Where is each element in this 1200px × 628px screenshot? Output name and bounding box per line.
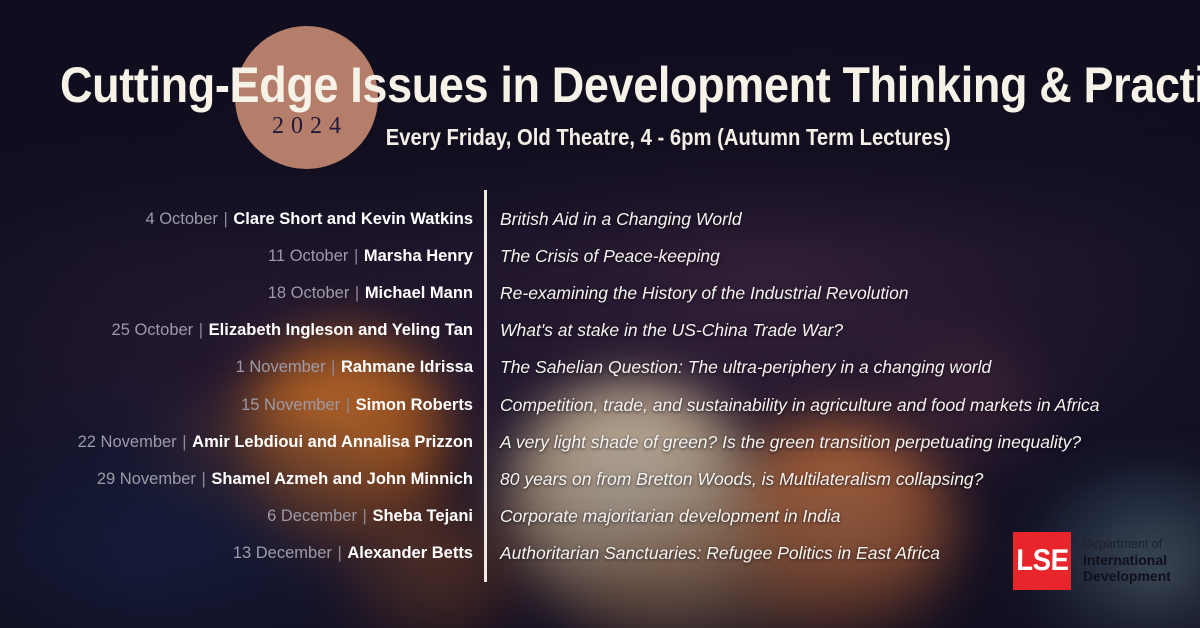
lecture-date: 11 October xyxy=(268,247,348,265)
lecture-date-speaker: 13 December | Alexander Betts xyxy=(0,541,473,565)
lecture-title: British Aid in a Changing World xyxy=(500,207,742,231)
lecture-date: 22 November xyxy=(78,433,177,451)
lecture-speakers: Amir Lebdioui and Annalisa Prizzon xyxy=(192,433,473,451)
date-speaker-separator: | xyxy=(349,284,364,302)
lecture-date-speaker: 4 October | Clare Short and Kevin Watkin… xyxy=(0,207,473,231)
lecture-speakers: Alexander Betts xyxy=(347,544,473,562)
date-speaker-separator: | xyxy=(196,470,211,488)
lecture-date: 1 November xyxy=(236,358,326,376)
lecture-row: 29 November | Shamel Azmeh and John Minn… xyxy=(0,467,1200,504)
lecture-speakers: Rahmane Idrissa xyxy=(341,358,473,376)
poster-canvas: 2024 Cutting-Edge Issues in Development … xyxy=(0,0,1200,628)
lecture-title: A very light shade of green? Is the gree… xyxy=(500,430,1081,454)
date-speaker-separator: | xyxy=(177,433,192,451)
date-speaker-separator: | xyxy=(218,210,233,228)
lecture-title: What's at stake in the US-China Trade Wa… xyxy=(500,318,843,342)
lecture-date-speaker: 18 October | Michael Mann xyxy=(0,281,473,305)
lecture-date-speaker: 1 November | Rahmane Idrissa xyxy=(0,355,473,379)
date-speaker-separator: | xyxy=(325,358,340,376)
lecture-speakers: Elizabeth Ingleson and Yeling Tan xyxy=(209,321,473,339)
page-title: Cutting-Edge Issues in Development Think… xyxy=(60,56,1140,114)
date-speaker-separator: | xyxy=(332,544,347,562)
lecture-row: 15 November | Simon RobertsCompetition, … xyxy=(0,393,1200,430)
lecture-date-speaker: 6 December | Sheba Tejani xyxy=(0,504,473,528)
lecture-date-speaker: 25 October | Elizabeth Ingleson and Yeli… xyxy=(0,318,473,342)
poster-header: 2024 Cutting-Edge Issues in Development … xyxy=(0,0,1200,180)
lse-department-of-label: Department of xyxy=(1083,537,1171,552)
lse-red-mark: LSE xyxy=(1013,532,1071,590)
lse-logo: LSE Department of International Developm… xyxy=(1013,532,1171,590)
lecture-title: The Sahelian Question: The ultra-periphe… xyxy=(500,355,991,379)
lecture-title: Re-examining the History of the Industri… xyxy=(500,281,909,305)
lecture-date: 4 October xyxy=(145,210,217,228)
lecture-speakers: Simon Roberts xyxy=(356,396,473,414)
lecture-row: 4 October | Clare Short and Kevin Watkin… xyxy=(0,207,1200,244)
lecture-title: Corporate majoritarian development in In… xyxy=(500,504,840,528)
lecture-speakers: Michael Mann xyxy=(365,284,473,302)
lecture-row: 11 October | Marsha HenryThe Crisis of P… xyxy=(0,244,1200,281)
date-speaker-separator: | xyxy=(340,396,355,414)
date-speaker-separator: | xyxy=(348,247,363,265)
lecture-title: The Crisis of Peace-keeping xyxy=(500,244,720,268)
lecture-date-speaker: 11 October | Marsha Henry xyxy=(0,244,473,268)
lecture-row: 25 October | Elizabeth Ingleson and Yeli… xyxy=(0,318,1200,355)
date-speaker-separator: | xyxy=(357,507,372,525)
lecture-row: 1 November | Rahmane IdrissaThe Sahelian… xyxy=(0,355,1200,392)
lecture-speakers: Marsha Henry xyxy=(364,247,473,265)
lecture-title: 80 years on from Bretton Woods, is Multi… xyxy=(500,467,983,491)
lse-wordmark: LSE xyxy=(1016,544,1069,578)
lecture-row: 22 November | Amir Lebdioui and Annalisa… xyxy=(0,430,1200,467)
lecture-date: 15 November xyxy=(241,396,340,414)
lecture-speakers: Sheba Tejani xyxy=(372,507,473,525)
lecture-date-speaker: 29 November | Shamel Azmeh and John Minn… xyxy=(0,467,473,491)
lecture-row: 18 October | Michael MannRe-examining th… xyxy=(0,281,1200,318)
lecture-date-speaker: 22 November | Amir Lebdioui and Annalisa… xyxy=(0,430,473,454)
page-subtitle: Every Friday, Old Theatre, 4 - 6pm (Autu… xyxy=(72,124,1128,151)
lecture-title: Authoritarian Sanctuaries: Refugee Polit… xyxy=(500,541,940,565)
lecture-title: Competition, trade, and sustainability i… xyxy=(500,393,1100,417)
lse-department-text: Department of International Development xyxy=(1083,537,1171,585)
lecture-date: 13 December xyxy=(233,544,332,562)
lecture-date: 25 October xyxy=(112,321,194,339)
lecture-date: 6 December xyxy=(267,507,357,525)
date-speaker-separator: | xyxy=(193,321,208,339)
lecture-schedule: 4 October | Clare Short and Kevin Watkin… xyxy=(0,196,1200,586)
lecture-date-speaker: 15 November | Simon Roberts xyxy=(0,393,473,417)
lecture-speakers: Clare Short and Kevin Watkins xyxy=(233,210,473,228)
lecture-speakers: Shamel Azmeh and John Minnich xyxy=(211,470,473,488)
lse-development-label: Development xyxy=(1083,568,1171,585)
lse-international-label: International xyxy=(1083,552,1171,569)
lecture-date: 18 October xyxy=(268,284,350,302)
lecture-date: 29 November xyxy=(97,470,196,488)
